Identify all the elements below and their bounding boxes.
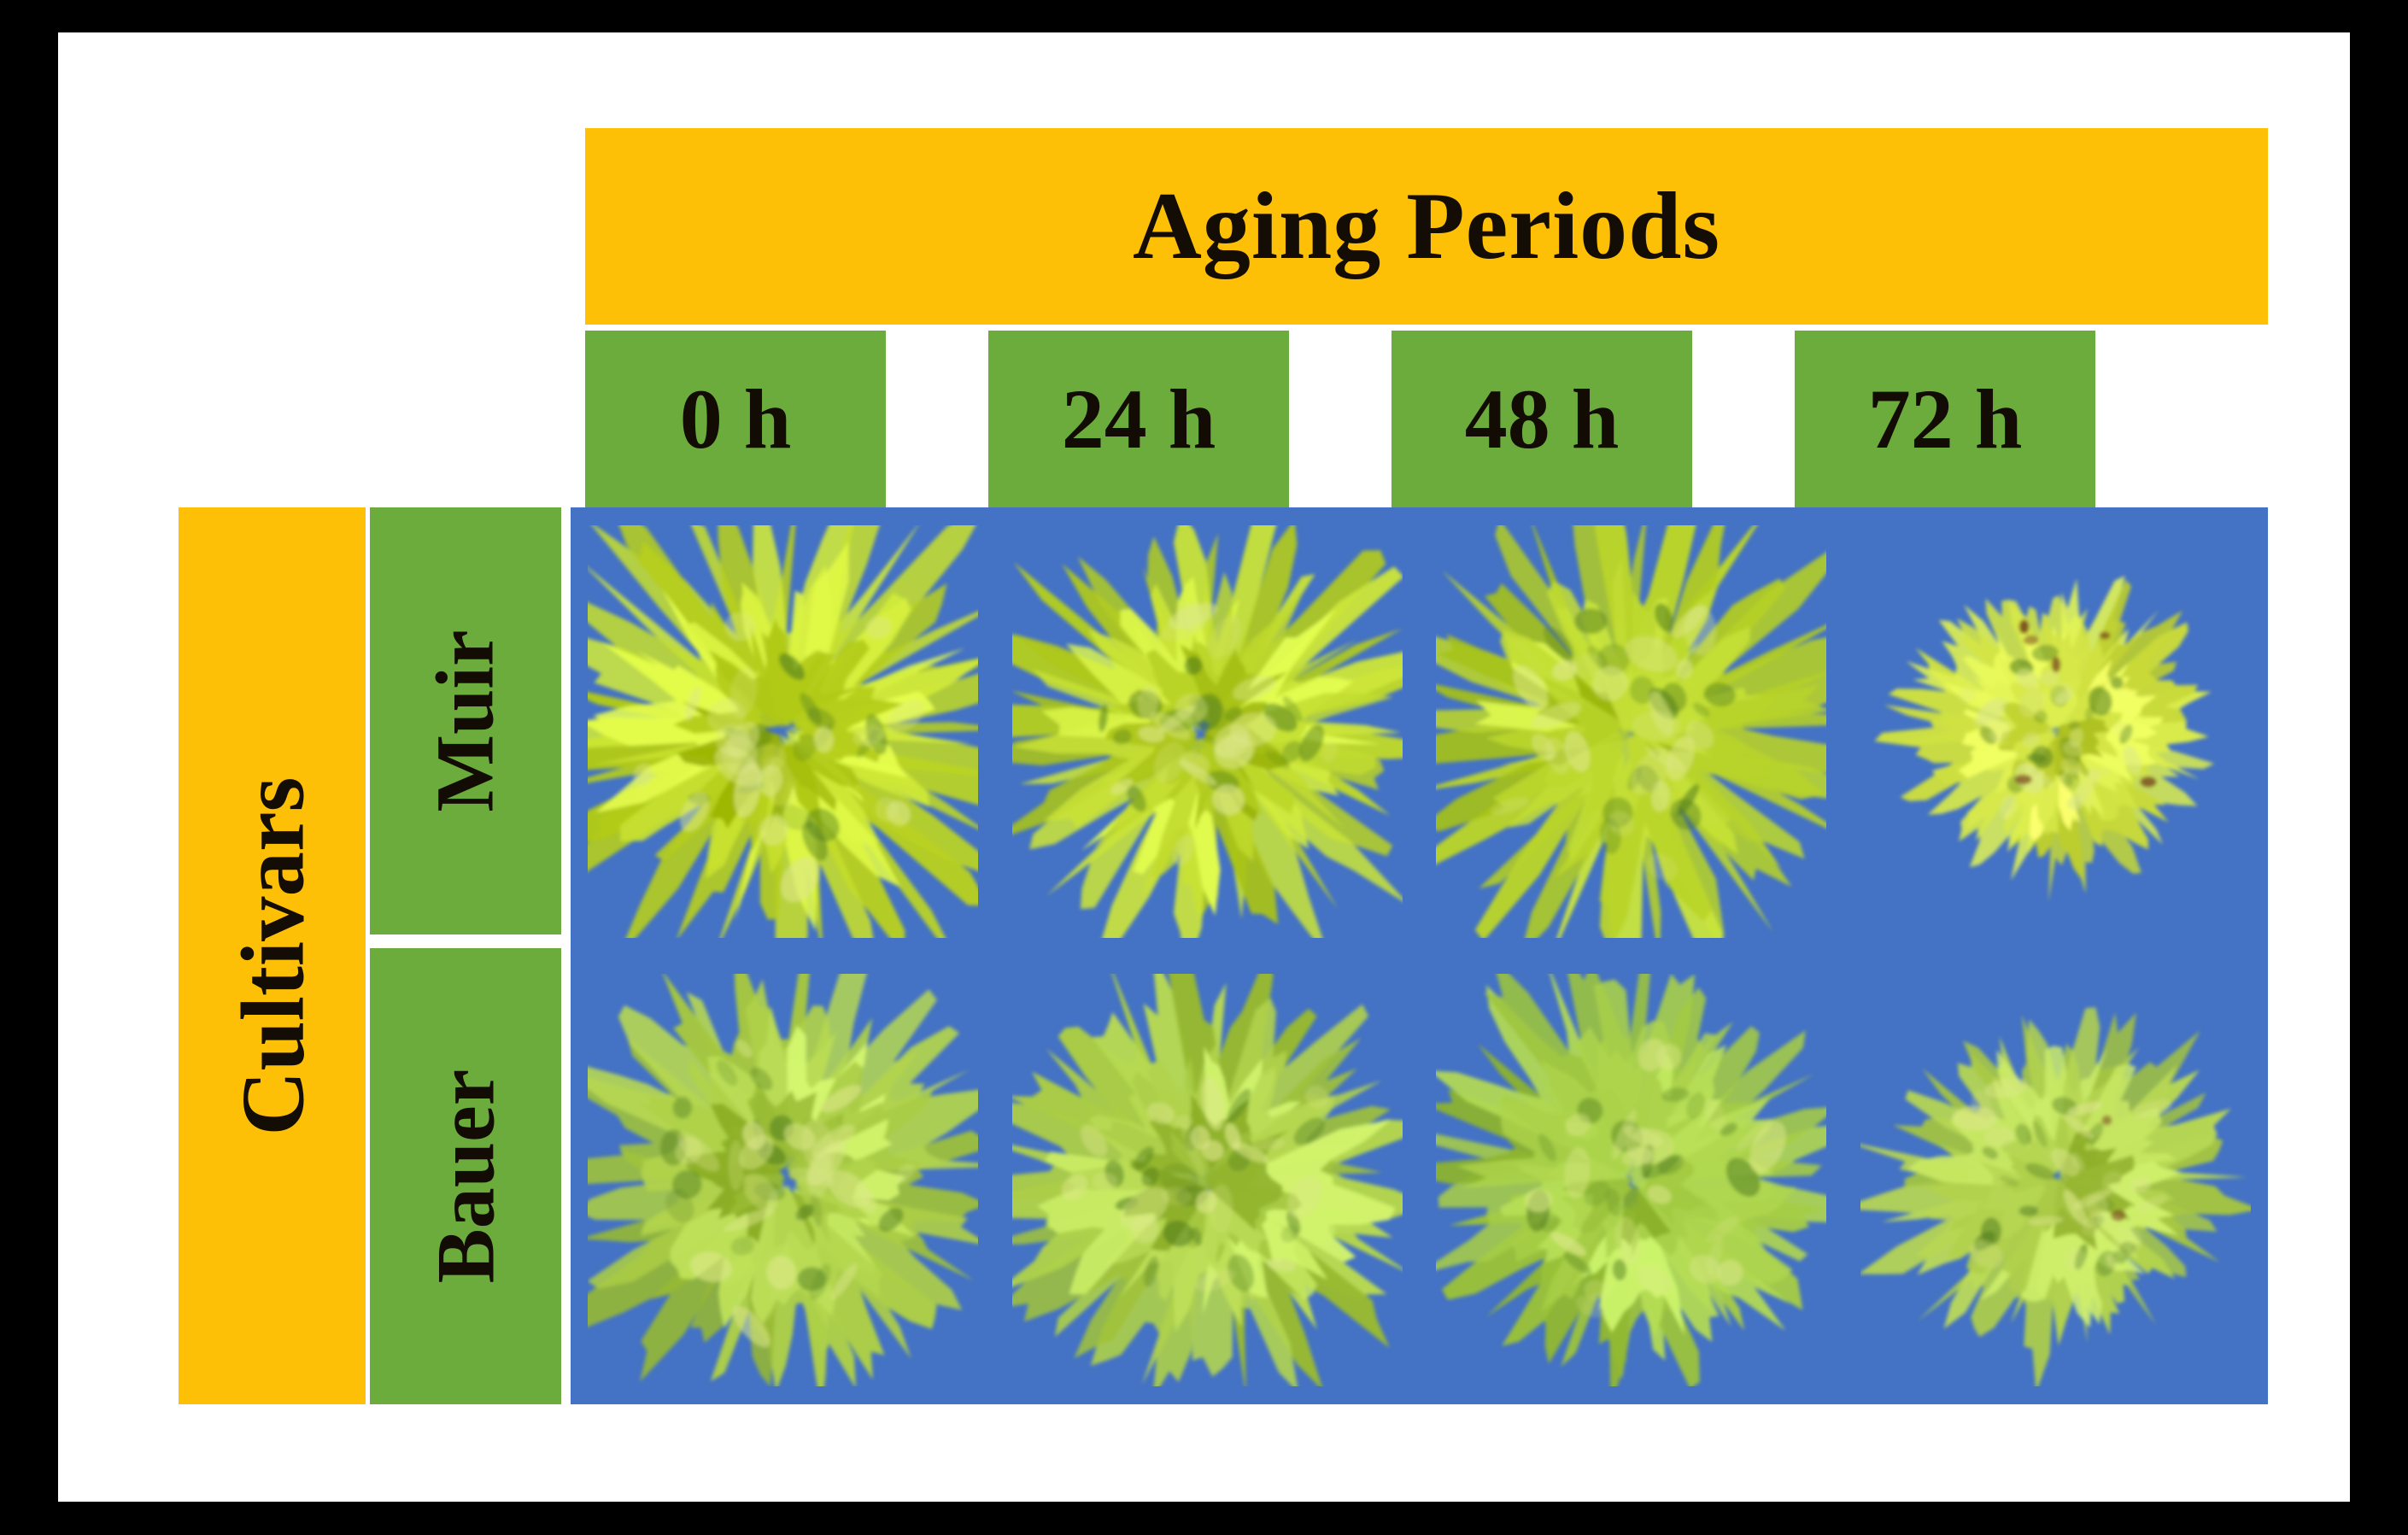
- cultivar-label-muir: Muir: [425, 630, 507, 811]
- lettuce-photo-muir-24h: [995, 507, 1420, 956]
- aging-period-label: 48 h: [1465, 377, 1620, 462]
- aging-period-columns: 0 h24 h48 h72 h: [585, 331, 2268, 508]
- column-gap: [1289, 331, 1391, 508]
- aging-period-header-72h: 72 h: [1795, 331, 2095, 508]
- lettuce-photo-panel: [571, 507, 2268, 1404]
- lettuce-photo-muir-0h: [571, 507, 995, 956]
- column-gap: [1692, 331, 1795, 508]
- aging-periods-label: Aging Periods: [1133, 179, 1720, 274]
- column-gap: [886, 331, 988, 508]
- aging-periods-header: Aging Periods: [585, 128, 2268, 325]
- aging-period-header-48h: 48 h: [1391, 331, 1692, 508]
- aging-period-header-24h: 24 h: [988, 331, 1289, 508]
- cultivars-label: Cultivars: [227, 776, 317, 1135]
- lettuce-photo-bauer-72h: [1843, 956, 2268, 1404]
- aging-period-header-0h: 0 h: [585, 331, 886, 508]
- lettuce-photo-bauer-24h: [995, 956, 1420, 1404]
- lettuce-photo-grid: [571, 507, 2268, 1404]
- figure-frame: Aging Periods 0 h24 h48 h72 h Cultivars …: [0, 0, 2408, 1535]
- cultivars-header: Cultivars: [179, 507, 366, 1404]
- lettuce-photo-bauer-48h: [1420, 956, 1844, 1404]
- aging-period-label: 0 h: [680, 377, 792, 462]
- cultivar-row-label-bauer: Bauer: [370, 948, 561, 1404]
- aging-period-label: 72 h: [1868, 377, 2023, 462]
- lettuce-photo-muir-72h: [1843, 507, 2268, 956]
- cultivar-label-bauer: Bauer: [425, 1069, 507, 1284]
- lettuce-photo-muir-48h: [1420, 507, 1844, 956]
- figure-page: Aging Periods 0 h24 h48 h72 h Cultivars …: [58, 32, 2350, 1502]
- cultivar-row-label-muir: Muir: [370, 507, 561, 934]
- aging-period-label: 24 h: [1062, 377, 1216, 462]
- lettuce-photo-bauer-0h: [571, 956, 995, 1404]
